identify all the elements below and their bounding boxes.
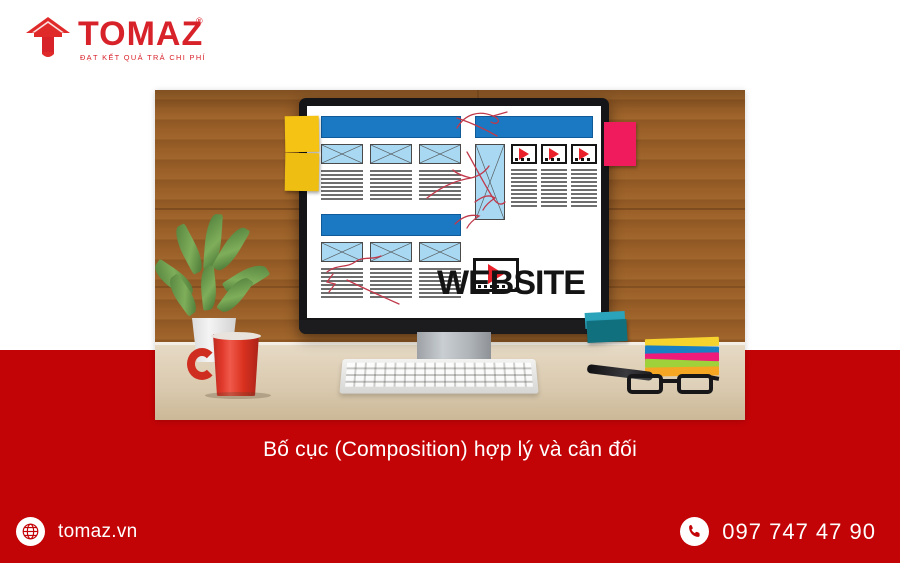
glasses-lens-left xyxy=(627,374,663,394)
keyboard xyxy=(339,359,538,394)
wireframe-image-placeholder xyxy=(419,144,461,164)
footer-website[interactable]: tomaz.vn xyxy=(16,517,138,546)
wireframe-image-placeholder-tall xyxy=(475,144,505,220)
globe-icon xyxy=(16,517,45,546)
red-mug xyxy=(211,334,261,396)
wireframe-image-placeholder xyxy=(321,242,363,262)
potted-plant xyxy=(161,212,273,324)
eyeglasses xyxy=(625,370,717,396)
registered-trademark-icon: ® xyxy=(196,16,203,26)
footer-phone[interactable]: 097 747 47 90 xyxy=(680,517,876,546)
website-label: tomaz.vn xyxy=(58,517,138,546)
keyboard-keys xyxy=(345,363,533,387)
brand-logo[interactable]: TOMAZ ® ĐẠT KẾT QUẢ TRẢ CHI PHÍ xyxy=(24,12,224,68)
mug-handle xyxy=(187,348,217,380)
wireframe-video-thumb xyxy=(571,144,597,164)
wireframe-text-block xyxy=(541,169,567,207)
screen-website-word: WEBSITE xyxy=(437,264,585,303)
wireframe-image-placeholder xyxy=(419,242,461,262)
wireframe-video-thumb xyxy=(541,144,567,164)
caption-text: Bố cục (Composition) hợp lý và cân đối xyxy=(0,438,900,462)
wireframe-text-block xyxy=(511,169,537,207)
hero-photo: WEBSITE xyxy=(155,90,745,420)
phone-number: 097 747 47 90 xyxy=(722,517,876,546)
wireframe-text-block xyxy=(370,170,412,202)
mug-rim xyxy=(211,332,261,340)
logo-wordmark: TOMAZ xyxy=(78,15,203,54)
logo-tagline: ĐẠT KẾT QUẢ TRẢ CHI PHÍ xyxy=(80,53,206,62)
sticky-note-teal xyxy=(586,319,627,343)
phone-icon xyxy=(680,517,709,546)
mug-shadow xyxy=(205,392,271,399)
sticky-note-yellow-lower xyxy=(285,153,320,192)
sticky-note-yellow-top xyxy=(285,116,320,153)
sticky-note-pink xyxy=(604,122,636,166)
wireframe-text-block xyxy=(321,170,363,202)
wireframe-header-bar xyxy=(321,116,461,138)
video-progress-bar xyxy=(575,158,593,161)
desktop-monitor: WEBSITE xyxy=(299,98,609,346)
wireframe-header-bar xyxy=(321,214,461,236)
glasses-lens-right xyxy=(677,374,713,394)
wireframe-header-bar xyxy=(475,116,593,138)
wireframe-video-thumb xyxy=(511,144,537,164)
video-progress-bar xyxy=(545,158,563,161)
monitor-screen: WEBSITE xyxy=(307,106,601,318)
wireframe-text-block xyxy=(419,170,461,202)
red-arrow-up-icon xyxy=(24,14,72,62)
wireframe-text-block xyxy=(571,169,597,207)
wireframe-image-placeholder xyxy=(370,242,412,262)
video-progress-bar xyxy=(515,158,533,161)
wireframe-text-block xyxy=(321,268,363,300)
wireframe-image-placeholder xyxy=(321,144,363,164)
glasses-bridge xyxy=(663,379,679,383)
wireframe-image-placeholder xyxy=(370,144,412,164)
wireframe-text-block xyxy=(370,268,412,300)
